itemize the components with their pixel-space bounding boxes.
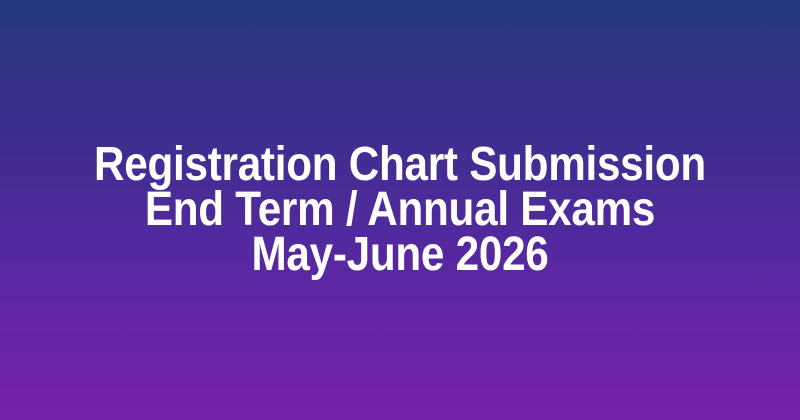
page-title: Registration Chart Submission End Term /… bbox=[0, 142, 800, 277]
title-line-3: May-June 2026 bbox=[48, 232, 752, 277]
banner-card: Registration Chart Submission End Term /… bbox=[0, 0, 800, 420]
title-line-1: Registration Chart Submission bbox=[48, 142, 752, 187]
title-line-2: End Term / Annual Exams bbox=[48, 187, 752, 232]
